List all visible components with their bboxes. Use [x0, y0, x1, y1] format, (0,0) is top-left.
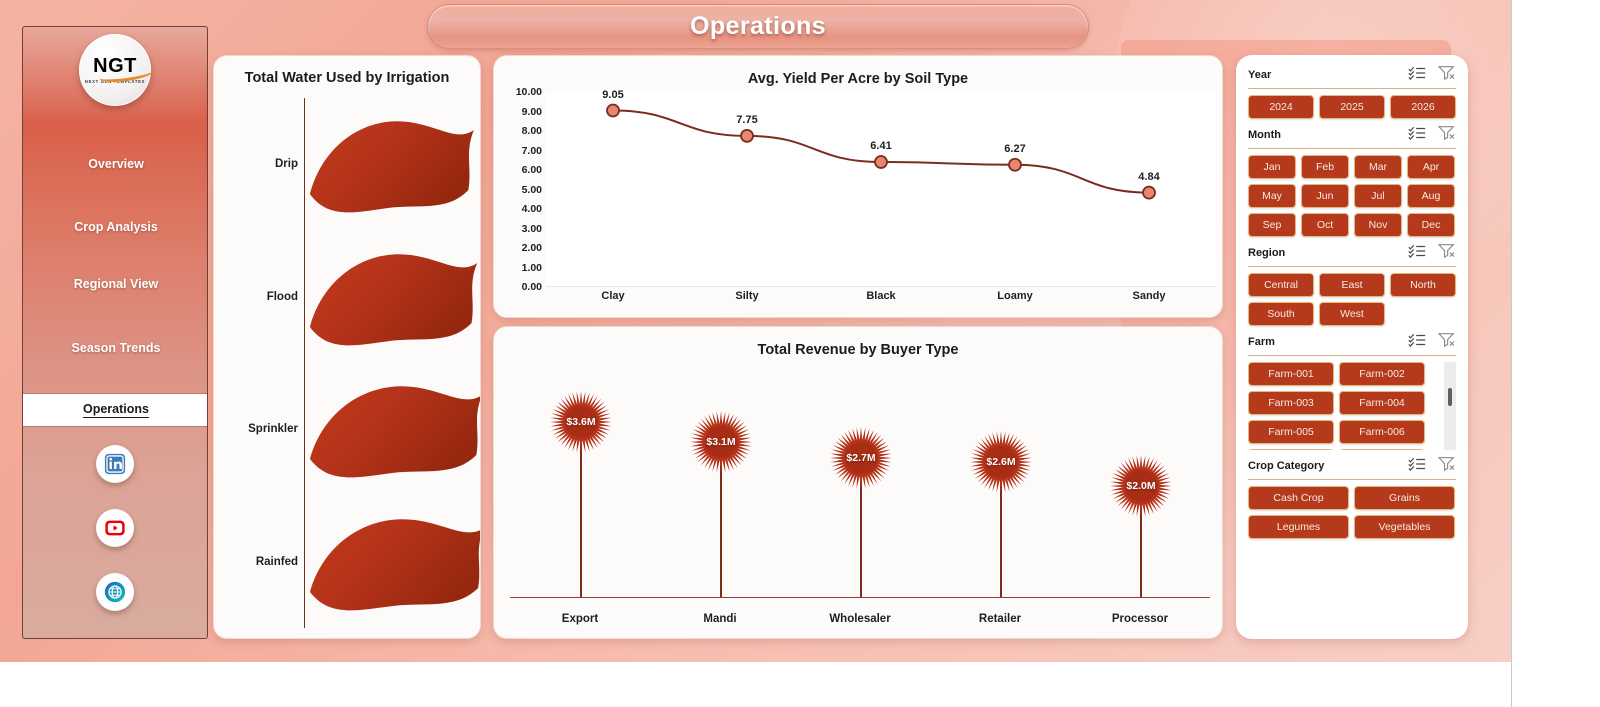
slicer-option-jul[interactable]: Jul: [1354, 184, 1402, 208]
website-icon[interactable]: [96, 573, 134, 611]
slicer-option-central[interactable]: Central: [1248, 273, 1314, 297]
revenue-value-label: $2.7M: [846, 452, 875, 464]
water-category-label: Flood: [238, 291, 298, 303]
slicer-option-nov[interactable]: Nov: [1354, 213, 1402, 237]
yield-x-axis-tick: Black: [866, 290, 895, 302]
revenue-value-label: $2.6M: [986, 456, 1015, 468]
water-chart-plot: Drip148.7KFlood159.1KSprinkler174.7KRain…: [238, 98, 481, 628]
slicer-option-farm-008[interactable]: Farm-008: [1339, 449, 1425, 450]
farm-options-grid: Farm-001Farm-002Farm-003Farm-004Farm-005…: [1248, 362, 1440, 450]
sidebar-item-overview[interactable]: Overview: [23, 147, 208, 181]
revenue-value-label: $2.0M: [1126, 480, 1155, 492]
page-title: Operations: [690, 12, 826, 41]
slicer-title: Month: [1248, 129, 1281, 141]
slicer-option-aug[interactable]: Aug: [1407, 184, 1455, 208]
clear-filter-icon[interactable]: [1438, 125, 1456, 145]
water-bar-flag[interactable]: [308, 506, 481, 618]
sidebar-item-regional-view[interactable]: Regional View: [23, 267, 208, 301]
multi-select-icon[interactable]: [1408, 457, 1426, 476]
slicer-option-farm-002[interactable]: Farm-002: [1339, 362, 1425, 386]
yield-y-axis-tick: 7.00: [494, 145, 542, 157]
slicer-year: Year202420252026: [1248, 65, 1456, 119]
slicer-option-vegetables[interactable]: Vegetables: [1354, 515, 1455, 539]
slicer-option-farm-007[interactable]: Farm-007: [1248, 449, 1334, 450]
page-bottom-margin: [0, 662, 1511, 707]
youtube-icon[interactable]: [96, 509, 134, 547]
water-bar-row[interactable]: Flood159.1K: [238, 231, 481, 364]
slicer-header: Farm: [1248, 332, 1456, 356]
slicer-region: RegionCentralEastNorthSouthWest: [1248, 243, 1456, 326]
water-bar-flag[interactable]: [308, 241, 479, 353]
slicer-option-sep[interactable]: Sep: [1248, 213, 1296, 237]
slicer-option-legumes[interactable]: Legumes: [1248, 515, 1349, 539]
revenue-chart-plot: $3.6MExport$3.1MMandi$2.7MWholesaler$2.6…: [494, 365, 1223, 639]
water-bar-row[interactable]: Drip148.7K: [238, 98, 481, 231]
revenue-category-label: Export: [562, 613, 598, 625]
yield-data-label: 7.75: [736, 114, 757, 126]
yield-data-label: 4.84: [1138, 171, 1159, 183]
page-header: Operations: [427, 4, 1089, 49]
multi-select-icon[interactable]: [1408, 66, 1426, 85]
revenue-chart-title: Total Revenue by Buyer Type: [494, 342, 1222, 358]
sidebar-item-crop-analysis[interactable]: Crop Analysis: [23, 210, 208, 244]
slicer-option-apr[interactable]: Apr: [1407, 155, 1455, 179]
sidebar-item-season-trends[interactable]: Season Trends: [23, 331, 208, 365]
revenue-burst-marker[interactable]: $3.1M: [689, 410, 753, 474]
slicer-icon-group: [1408, 125, 1456, 145]
water-usage-card: Total Water Used by Irrigation Drip148.7…: [213, 55, 481, 639]
multi-select-icon: [1408, 333, 1426, 347]
brand-logo: NGT NEXT GEN TEMPLATES: [79, 34, 151, 106]
slicer-option-cash-crop[interactable]: Cash Crop: [1248, 486, 1349, 510]
yield-y-axis-tick: 3.00: [494, 223, 542, 235]
revenue-card: Total Revenue by Buyer Type $3.6MExport$…: [493, 326, 1223, 639]
revenue-value-label: $3.6M: [566, 416, 595, 428]
multi-select-icon[interactable]: [1408, 244, 1426, 263]
farm-scrollbar-thumb[interactable]: [1448, 388, 1452, 406]
slicer-option-2024[interactable]: 2024: [1248, 95, 1314, 119]
page-right-margin: [1511, 0, 1600, 707]
slicer-option-feb[interactable]: Feb: [1301, 155, 1349, 179]
dashboard-canvas: Operations NGT NEXT GEN TEMPLATES Overvi…: [0, 0, 1600, 707]
slicer-options: Cash CropGrainsLegumesVegetables: [1248, 486, 1456, 539]
clear-filter-icon: [1438, 332, 1456, 347]
yield-chart-title: Avg. Yield Per Acre by Soil Type: [494, 71, 1222, 87]
slicer-options: 202420252026: [1248, 95, 1456, 119]
slicer-option-east[interactable]: East: [1319, 273, 1385, 297]
slicer-option-south[interactable]: South: [1248, 302, 1314, 326]
slicer-option-farm-004[interactable]: Farm-004: [1339, 391, 1425, 415]
multi-select-icon: [1408, 126, 1426, 140]
water-bar-row[interactable]: Sprinkler174.7K: [238, 363, 481, 496]
yield-x-axis-tick: Sandy: [1132, 290, 1165, 302]
farm-scroll-wrapper: Farm-001Farm-002Farm-003Farm-004Farm-005…: [1248, 362, 1456, 450]
slicer-option-west[interactable]: West: [1319, 302, 1385, 326]
revenue-burst-marker[interactable]: $2.7M: [829, 426, 893, 490]
logo-text: NGT: [93, 56, 137, 76]
sidebar-item-label: Overview: [88, 157, 144, 171]
sidebar: NGT NEXT GEN TEMPLATES OverviewCrop Anal…: [22, 26, 208, 639]
slicer-title: Farm: [1248, 336, 1275, 348]
slicer-header: Year: [1248, 65, 1456, 89]
revenue-category-label: Processor: [1112, 613, 1168, 625]
clear-filter-icon: [1438, 65, 1456, 80]
slicer-options: CentralEastNorthSouthWest: [1248, 273, 1456, 326]
slicer-month: MonthJanFebMarAprMayJunJulAugSepOctNovDe…: [1248, 125, 1456, 237]
slicer-option-dec[interactable]: Dec: [1407, 213, 1455, 237]
clear-filter-icon[interactable]: [1438, 332, 1456, 352]
sidebar-item-label: Operations: [83, 402, 149, 418]
slicer-header: Month: [1248, 125, 1456, 149]
filter-panel: Year202420252026MonthJanFebMarAprMayJunJ…: [1236, 55, 1468, 639]
slicer-option-jan[interactable]: Jan: [1248, 155, 1296, 179]
yield-y-axis-tick: 9.00: [494, 106, 542, 118]
yield-card: Avg. Yield Per Acre by Soil Type 10.009.…: [493, 55, 1223, 318]
multi-select-icon[interactable]: [1408, 126, 1426, 145]
clear-filter-icon[interactable]: [1438, 456, 1456, 476]
revenue-baseline-axis: [510, 597, 1210, 598]
slicer-crop-category: Crop CategoryCash CropGrainsLegumesVeget…: [1248, 456, 1456, 539]
sidebar-item-label: Regional View: [74, 277, 159, 291]
revenue-burst-marker[interactable]: $2.0M: [1109, 454, 1173, 518]
slicer-title: Year: [1248, 69, 1271, 81]
slicer-option-oct[interactable]: Oct: [1301, 213, 1349, 237]
multi-select-icon: [1408, 457, 1426, 471]
slicer-header: Crop Category: [1248, 456, 1456, 480]
slicer-option-2025[interactable]: 2025: [1319, 95, 1385, 119]
water-category-label: Drip: [238, 158, 298, 170]
slicer-option-grains[interactable]: Grains: [1354, 486, 1455, 510]
yield-y-axis-tick: 5.00: [494, 184, 542, 196]
clear-filter-icon[interactable]: [1438, 243, 1456, 263]
revenue-category-label: Wholesaler: [829, 613, 890, 625]
yield-data-label: 6.41: [870, 140, 891, 152]
clear-filter-icon: [1438, 456, 1456, 471]
revenue-burst-marker[interactable]: $3.6M: [549, 390, 613, 454]
yield-chart-plot: 10.009.008.007.006.005.004.003.002.001.0…: [494, 92, 1223, 317]
slicer-option-farm-006[interactable]: Farm-006: [1339, 420, 1425, 444]
slicer-option-farm-005[interactable]: Farm-005: [1248, 420, 1334, 444]
water-bar-row[interactable]: Rainfed180.4K: [238, 496, 481, 629]
slicer-title: Crop Category: [1248, 460, 1324, 472]
slicer-title: Region: [1248, 247, 1285, 259]
yield-data-label: 9.05: [602, 89, 623, 101]
sidebar-item-label: Season Trends: [72, 341, 161, 355]
water-category-label: Rainfed: [238, 556, 298, 568]
sidebar-item-label: Crop Analysis: [74, 220, 158, 234]
yield-y-axis-tick: 8.00: [494, 125, 542, 137]
yield-plot-area: [546, 92, 1216, 287]
slicer-icon-group: [1408, 332, 1456, 352]
revenue-category-label: Retailer: [979, 613, 1021, 625]
farm-scrollbar[interactable]: [1444, 362, 1456, 450]
yield-y-axis-tick: 10.00: [494, 86, 542, 98]
yield-y-axis-tick: 4.00: [494, 203, 542, 215]
slicer-option-2026[interactable]: 2026: [1390, 95, 1456, 119]
slicer-icon-group: [1408, 243, 1456, 263]
revenue-burst-marker[interactable]: $2.6M: [969, 430, 1033, 494]
sidebar-item-operations[interactable]: Operations: [23, 393, 208, 427]
slicer-icon-group: [1408, 65, 1456, 85]
slicer-header: Region: [1248, 243, 1456, 267]
slicer-icon-group: [1408, 456, 1456, 476]
yield-y-axis-tick: 0.00: [494, 281, 542, 293]
slicer-option-north[interactable]: North: [1390, 273, 1456, 297]
yield-x-axis-tick: Clay: [601, 290, 624, 302]
water-chart-title: Total Water Used by Irrigation: [214, 70, 480, 86]
yield-data-label: 6.27: [1004, 143, 1025, 155]
slicer-option-farm-003[interactable]: Farm-003: [1248, 391, 1334, 415]
clear-filter-icon: [1438, 243, 1456, 258]
slicer-option-may[interactable]: May: [1248, 184, 1296, 208]
slicer-option-mar[interactable]: Mar: [1354, 155, 1402, 179]
yield-y-axis-tick: 6.00: [494, 164, 542, 176]
water-bar-flag[interactable]: [308, 373, 481, 485]
water-category-label: Sprinkler: [238, 423, 298, 435]
slicer-farm: FarmFarm-001Farm-002Farm-003Farm-004Farm…: [1248, 332, 1456, 450]
clear-filter-icon: [1438, 125, 1456, 140]
yield-y-axis-tick: 1.00: [494, 262, 542, 274]
slicer-options: JanFebMarAprMayJunJulAugSepOctNovDec: [1248, 155, 1456, 237]
multi-select-icon: [1408, 244, 1426, 258]
slicer-option-farm-001[interactable]: Farm-001: [1248, 362, 1334, 386]
water-bar-flag[interactable]: [308, 108, 476, 220]
multi-select-icon[interactable]: [1408, 333, 1426, 352]
revenue-category-label: Mandi: [703, 613, 736, 625]
multi-select-icon: [1408, 66, 1426, 80]
yield-x-axis-tick: Loamy: [997, 290, 1032, 302]
slicer-option-jun[interactable]: Jun: [1301, 184, 1349, 208]
linkedin-icon[interactable]: [96, 445, 134, 483]
yield-y-axis-tick: 2.00: [494, 242, 542, 254]
clear-filter-icon[interactable]: [1438, 65, 1456, 85]
yield-x-axis-tick: Silty: [735, 290, 758, 302]
revenue-value-label: $3.1M: [706, 436, 735, 448]
